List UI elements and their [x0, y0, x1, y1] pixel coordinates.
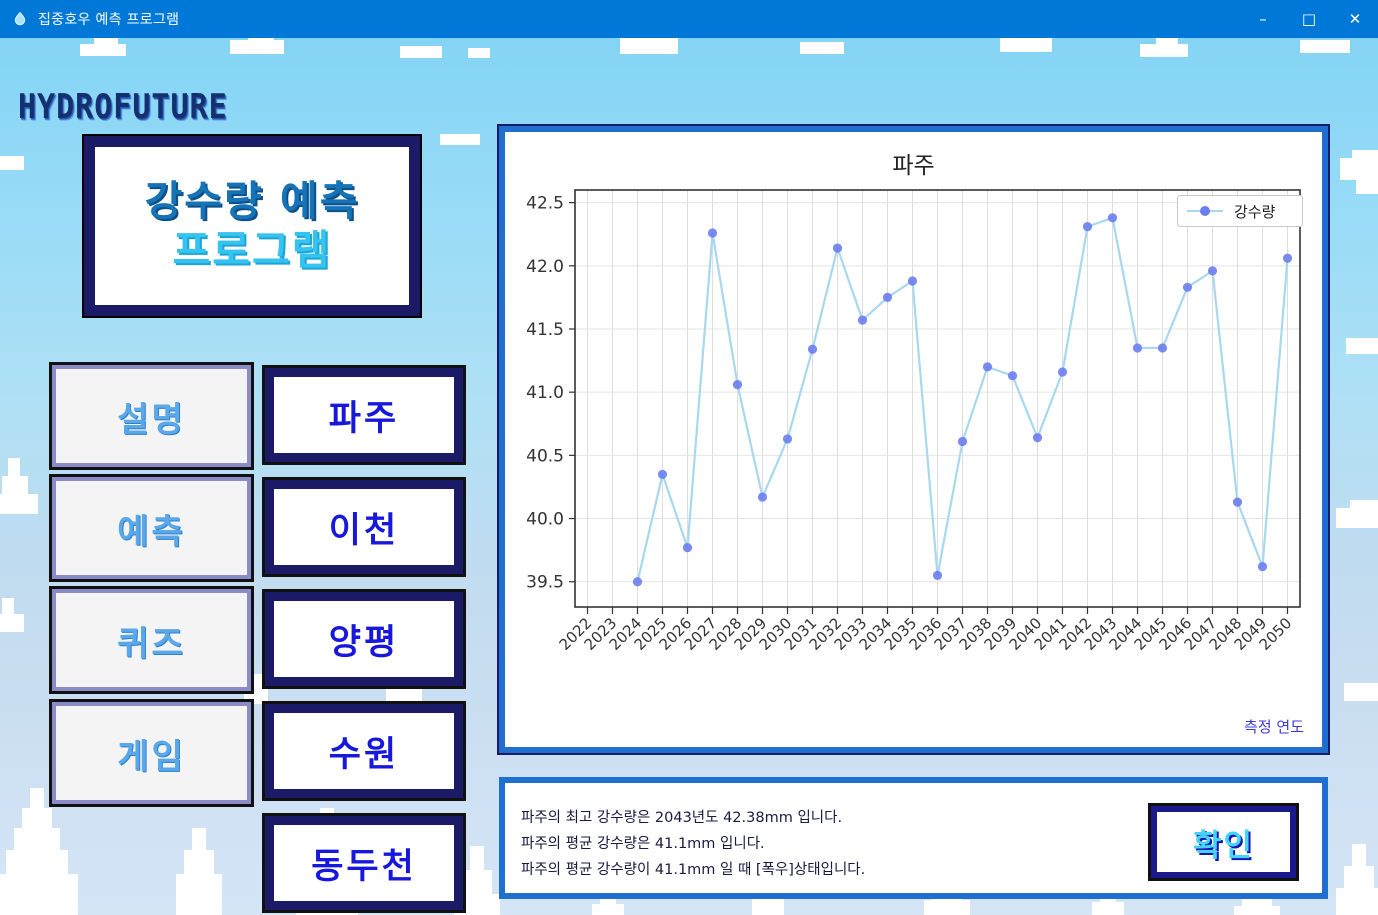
maximize-button[interactable]: □ — [1286, 0, 1332, 38]
legend-line-swatch — [1187, 210, 1223, 212]
water-drop-icon — [12, 11, 28, 27]
chart-legend: 강수량 — [1177, 195, 1303, 227]
window-titlebar: 집중호우 예측 프로그램 – □ ✕ — [0, 0, 1378, 38]
title-banner: 강수량 예측 프로그램 — [84, 136, 420, 316]
info-line-state: 파주의 평균 강수량이 41.1mm 일 때 [폭우]상태입니다. — [521, 857, 865, 883]
region-button-yangpyeong[interactable]: 양평 — [265, 592, 463, 686]
svg-text:42.0: 42.0 — [526, 257, 564, 277]
app-background: HYDROFUTURE 강수량 예측 프로그램 설명 예측 퀴즈 게임 파주 이… — [0, 38, 1378, 915]
svg-text:41.0: 41.0 — [526, 383, 564, 403]
close-button[interactable]: ✕ — [1332, 0, 1378, 38]
svg-text:39.5: 39.5 — [526, 573, 564, 593]
info-line-avg: 파주의 평균 강수량은 41.1mm 입니다. — [521, 831, 865, 857]
window-controls: – □ ✕ — [1240, 0, 1378, 38]
x-axis-caption: 측정 연도 — [1244, 716, 1304, 737]
window-title: 집중호우 예측 프로그램 — [38, 9, 179, 29]
svg-text:42.5: 42.5 — [526, 194, 564, 214]
info-line-max: 파주의 최고 강수량은 2043년도 42.38mm 입니다. — [521, 805, 865, 831]
menu-button-description[interactable]: 설명 — [52, 365, 251, 467]
region-button-dongducheon[interactable]: 동두천 — [265, 816, 463, 910]
legend-label: 강수량 — [1234, 201, 1275, 222]
svg-text:40.0: 40.0 — [526, 510, 564, 530]
brand-wordmark: HYDROFUTURE — [18, 88, 228, 127]
svg-text:41.5: 41.5 — [526, 320, 564, 340]
region-button-suwon[interactable]: 수원 — [265, 704, 463, 798]
menu-button-forecast[interactable]: 예측 — [52, 477, 251, 579]
info-panel: 파주의 최고 강수량은 2043년도 42.38mm 입니다. 파주의 평균 강… — [499, 777, 1328, 899]
info-text-block: 파주의 최고 강수량은 2043년도 42.38mm 입니다. 파주의 평균 강… — [521, 805, 865, 883]
legend-marker-swatch — [1200, 206, 1210, 216]
banner-title-line-1: 강수량 예측 — [145, 179, 360, 224]
banner-title-line-2: 프로그램 — [173, 228, 332, 273]
menu-button-game[interactable]: 게임 — [52, 702, 251, 804]
chart-panel: 파주 39.540.040.541.041.542.042.5202220232… — [499, 126, 1328, 753]
region-button-icheon[interactable]: 이천 — [265, 480, 463, 574]
confirm-button[interactable]: 확인 — [1151, 806, 1296, 878]
menu-button-quiz[interactable]: 퀴즈 — [52, 589, 251, 691]
minimize-button[interactable]: – — [1240, 0, 1286, 38]
svg-text:40.5: 40.5 — [526, 446, 564, 466]
region-button-paju[interactable]: 파주 — [265, 368, 463, 462]
